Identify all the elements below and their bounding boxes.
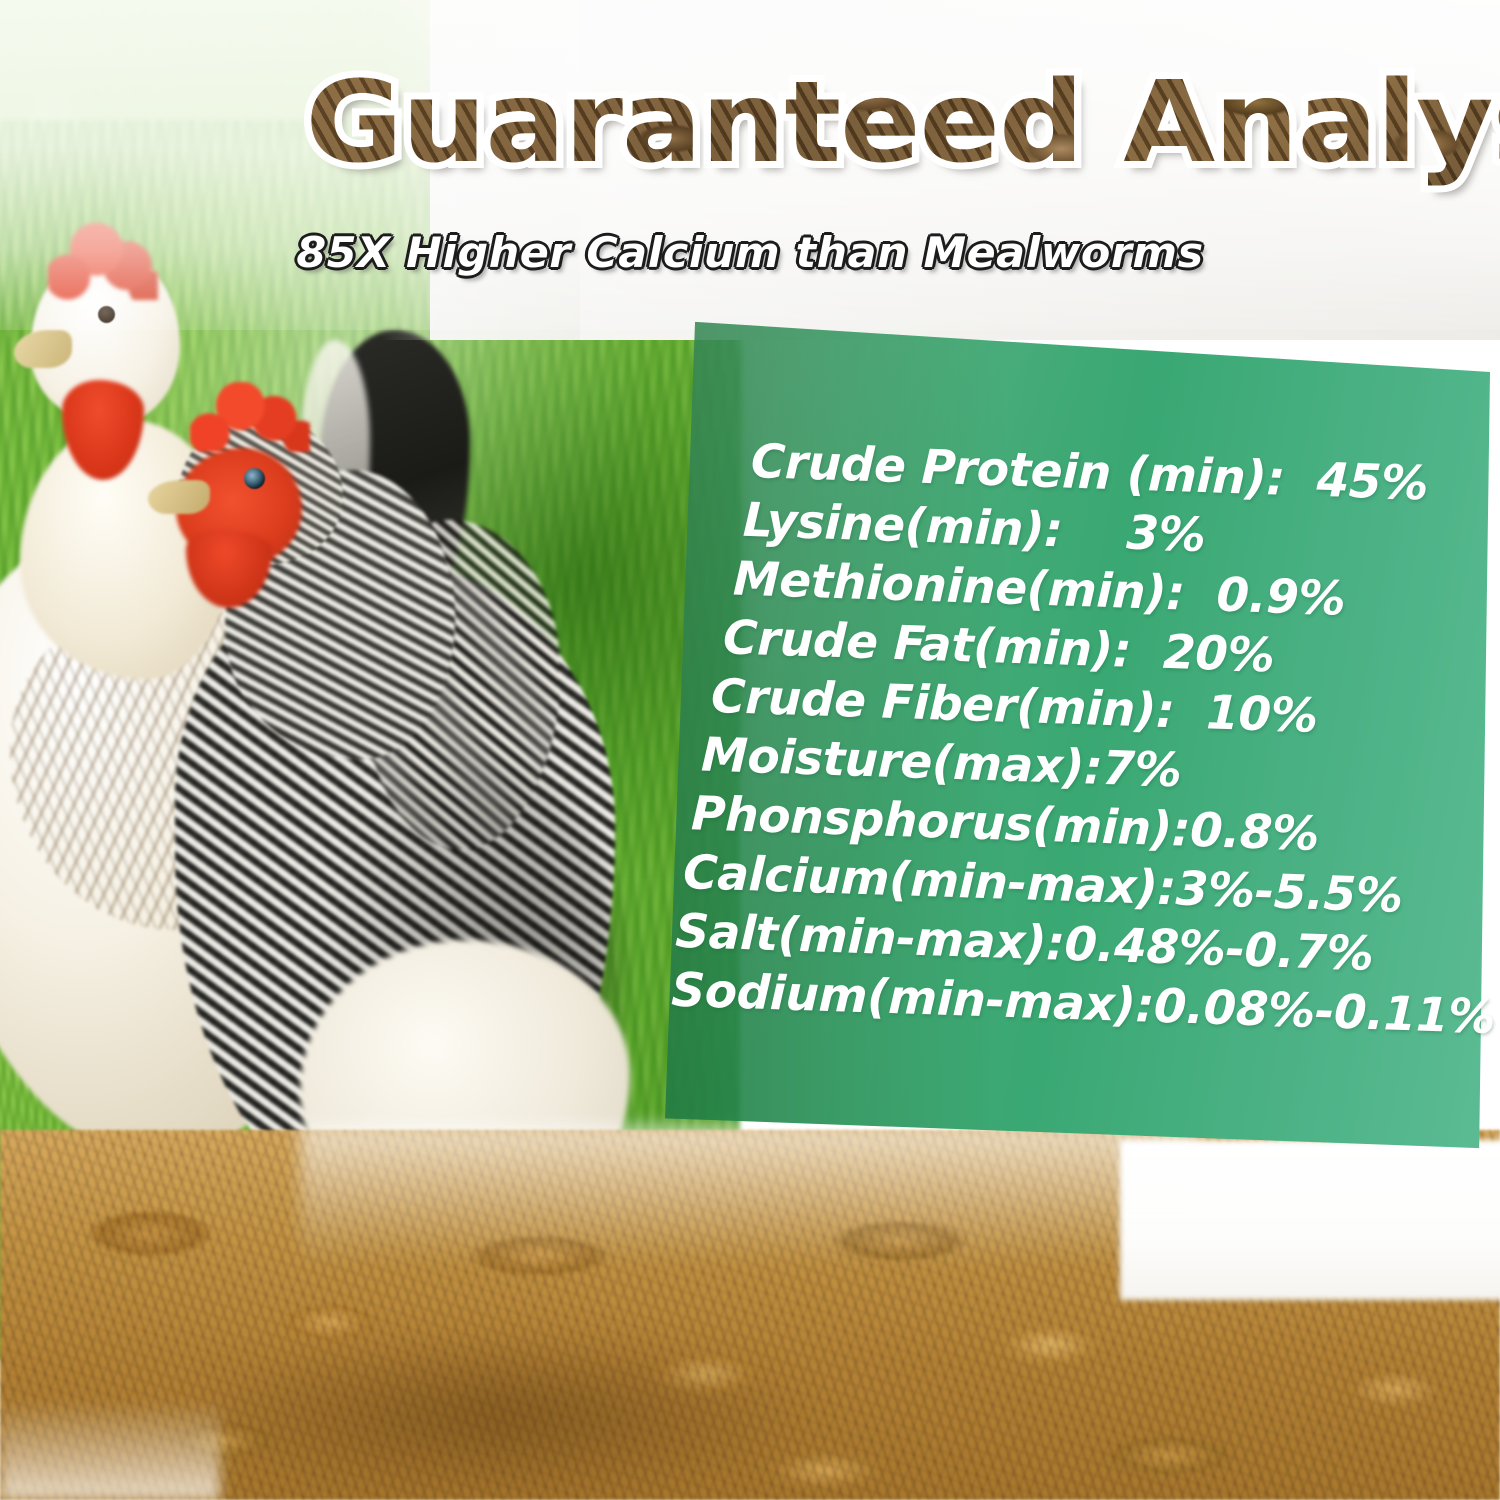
barred-hen-beak [148,480,210,514]
larvae-shadow [180,1330,820,1500]
page-title-fill: Guaranteed Analysis [306,58,1500,188]
page-subtitle: 85X Higher Calcium than Mealworms [0,228,1500,277]
barred-hen-eye [244,468,265,489]
page-title: Guaranteed Analysis Guaranteed Analysis [340,58,1490,188]
barred-hen-comb [190,382,310,452]
product-infographic: Guaranteed Analysis Guaranteed Analysis … [0,0,1500,1500]
larvae-top-haze [300,1125,1200,1265]
white-surface-left [0,1400,220,1500]
nutrient-list: Crude Protein (min): 45% Lysine(min): 3%… [670,430,1489,1046]
